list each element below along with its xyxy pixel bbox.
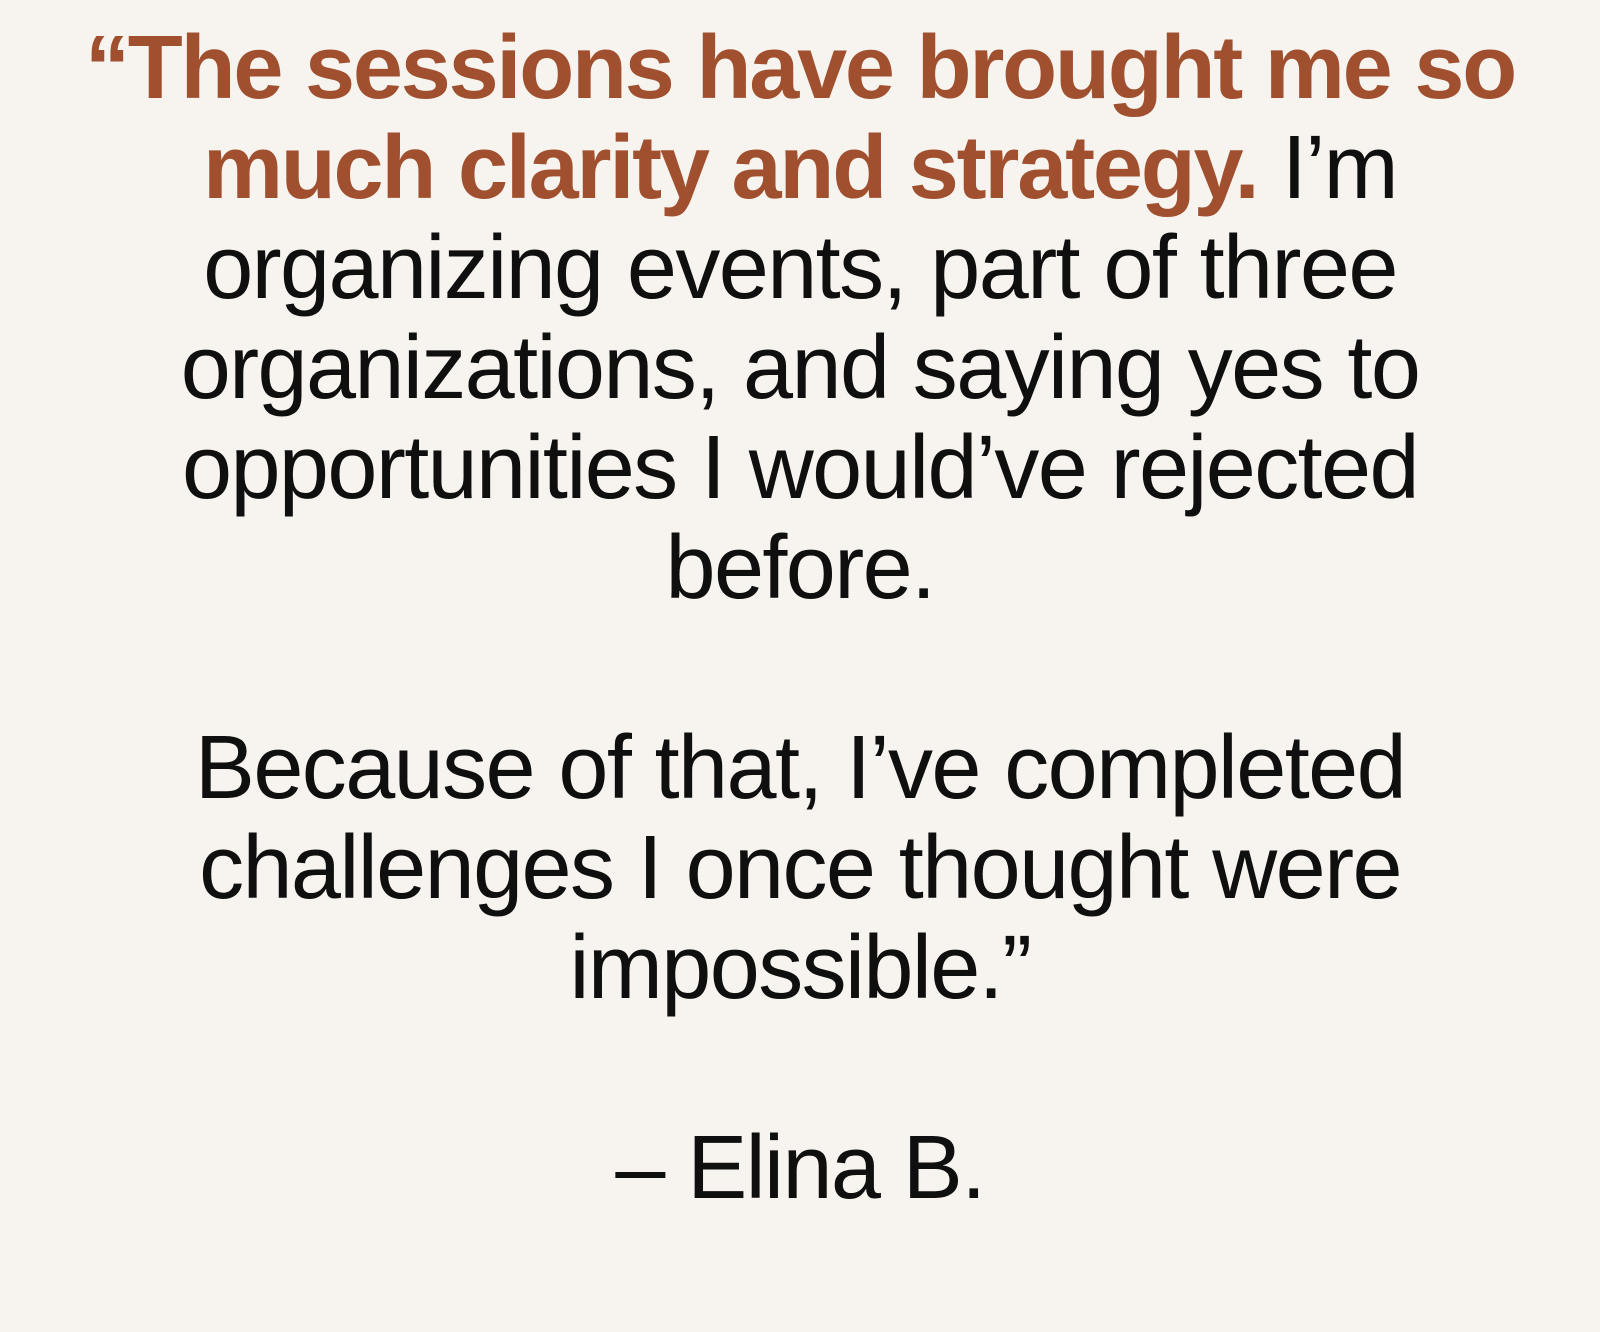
- quote-paragraph-two: Because of that, I’ve completed challeng…: [58, 718, 1542, 1018]
- paragraph-spacer-one: [58, 618, 1542, 718]
- paragraph-spacer-two: [58, 1018, 1542, 1118]
- testimonial-quote-card: “The sessions have brought me so much cl…: [0, 0, 1600, 1332]
- quote-attribution: – Elina B.: [58, 1118, 1542, 1218]
- quote-paragraph-one: “The sessions have brought me so much cl…: [58, 18, 1542, 618]
